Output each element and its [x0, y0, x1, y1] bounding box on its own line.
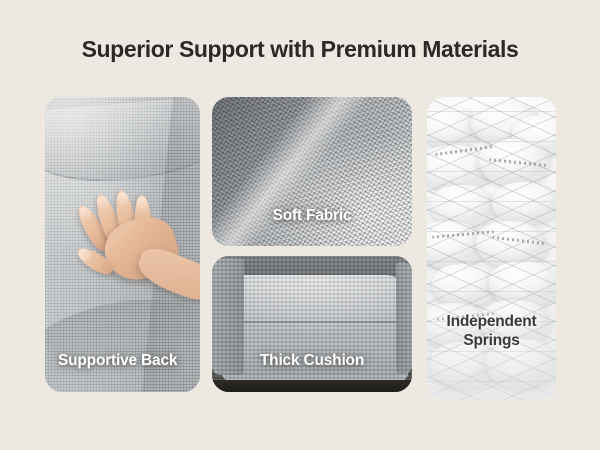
- feature-card-independent-springs: Independent Springs: [427, 97, 556, 400]
- independent-springs-image: [427, 97, 556, 400]
- caption-independent-springs: Independent Springs: [433, 313, 551, 350]
- hand-icon: [75, 175, 200, 295]
- feature-card-supportive-back: Supportive Back: [45, 97, 200, 392]
- feature-card-thick-cushion: Thick Cushion: [212, 256, 412, 392]
- supportive-back-image: [45, 97, 200, 392]
- caption-independent-springs-line1: Independent: [433, 313, 551, 331]
- page-title: Superior Support with Premium Materials: [0, 36, 600, 63]
- caption-supportive-back: Supportive Back: [58, 352, 177, 370]
- caption-independent-springs-line2: Springs: [433, 332, 551, 350]
- caption-soft-fabric: Soft Fabric: [273, 207, 352, 225]
- feature-card-soft-fabric: Soft Fabric: [212, 97, 412, 246]
- caption-thick-cushion: Thick Cushion: [260, 352, 364, 370]
- page-title-text: Superior Support with Premium Materials: [0, 36, 600, 63]
- thick-cushion-image: [212, 256, 412, 392]
